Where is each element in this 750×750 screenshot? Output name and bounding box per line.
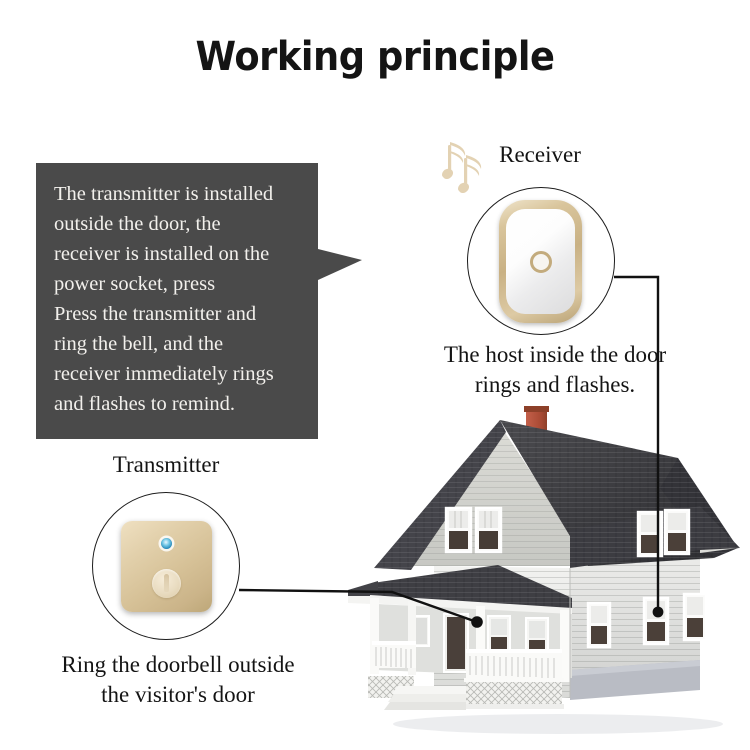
- doorbell-button-icon[interactable]: [152, 569, 181, 598]
- working-principle-infographic: Working principle: [0, 0, 750, 750]
- explanation-callout: The transmitter is installed outside the…: [36, 163, 318, 439]
- house-svg: [348, 398, 750, 738]
- doorbell-glyph: [164, 574, 169, 592]
- transmitter-label: Transmitter: [85, 452, 247, 478]
- receiver-device: [499, 200, 582, 323]
- page-title: Working principle: [30, 34, 720, 80]
- transmitter-caption: Ring the doorbell outside the visitor's …: [28, 650, 328, 710]
- explanation-text: The transmitter is installed outside the…: [54, 179, 306, 419]
- receiver-caption: The host inside the door rings and flash…: [410, 340, 700, 400]
- transmitter-device: [121, 521, 212, 612]
- callout-tail: [318, 249, 362, 280]
- model-house-illustration: [348, 398, 750, 738]
- music-notes-icon: [434, 139, 492, 199]
- transmitter-led-indicator: [161, 538, 172, 549]
- receiver-button[interactable]: [530, 251, 552, 273]
